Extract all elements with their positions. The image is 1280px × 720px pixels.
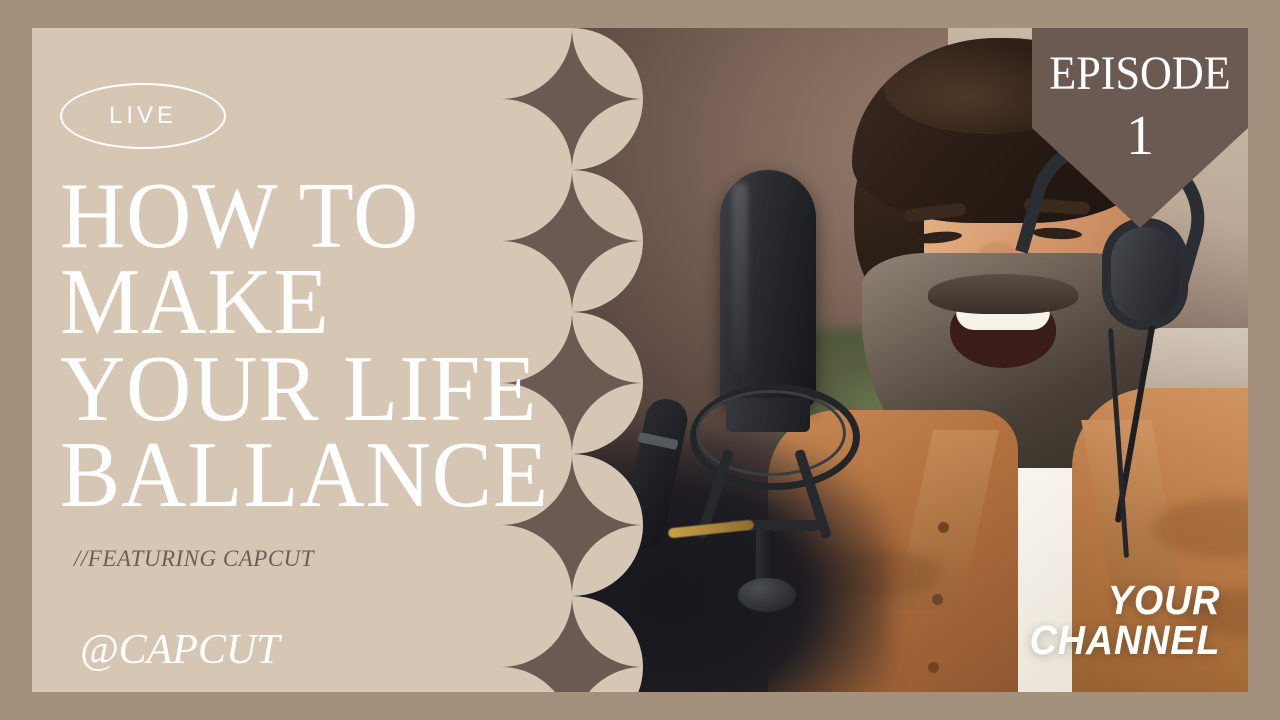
headphone-earcup	[1102, 218, 1188, 330]
mic-knob	[738, 578, 796, 612]
channel-name-line-2: CHANNEL	[1029, 621, 1220, 660]
featuring-text: //FEATURING CAPCUT	[74, 546, 314, 572]
mic-highlight	[732, 182, 748, 372]
channel-name: YOUR CHANNEL	[1013, 581, 1220, 660]
headline-line-2: MAKE	[60, 259, 511, 345]
microphone	[682, 148, 942, 578]
live-badge-label: LIVE	[109, 102, 177, 130]
live-badge[interactable]: LIVE	[60, 83, 226, 149]
mustache	[928, 274, 1078, 314]
episode-label: EPISODE	[1041, 46, 1240, 101]
headline-line-4: BALLANCE	[60, 432, 511, 518]
headline-line-3: YOUR LIFE	[60, 346, 511, 432]
thumbnail-canvas: LIVE HOW TO MAKE YOUR LIFE BALLANCE //FE…	[0, 0, 1280, 720]
jacket-button	[928, 662, 939, 673]
social-handle: @CAPCUT	[80, 626, 280, 674]
page-title: HOW TO MAKE YOUR LIFE BALLANCE	[60, 173, 530, 519]
headline-line-1: HOW TO	[60, 173, 511, 259]
jacket-button	[932, 594, 943, 605]
channel-name-line-1: YOUR	[1029, 581, 1220, 620]
artboard: LIVE HOW TO MAKE YOUR LIFE BALLANCE //FE…	[32, 28, 1248, 692]
